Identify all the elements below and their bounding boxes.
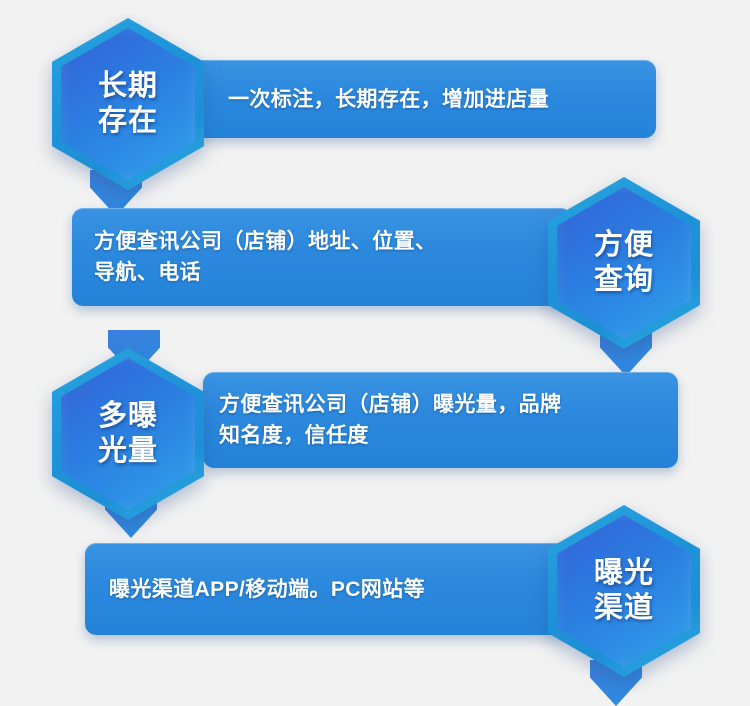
feature-hexagon-convenient-query: 方便 查询 bbox=[548, 177, 700, 349]
feature-bar-exposure-channels: 曝光渠道APP/移动端。PC网站等 bbox=[85, 543, 572, 635]
feature-hexagon-long-term-presence: 长期 存在 bbox=[52, 18, 204, 190]
feature-bar-text: 曝光渠道APP/移动端。PC网站等 bbox=[85, 574, 425, 605]
feature-hexagon-label: 曝光 渠道 bbox=[548, 505, 700, 677]
feature-hexagon-label: 长期 存在 bbox=[52, 18, 204, 190]
feature-bar-text: 一次标注，长期存在，增加进店量 bbox=[188, 84, 549, 115]
feature-hexagon-exposure-channels: 曝光 渠道 bbox=[548, 505, 700, 677]
feature-bar-more-exposure: 方便查讯公司（店铺）曝光量，品牌 知名度，信任度 bbox=[203, 372, 678, 468]
feature-hexagon-label: 多曝 光量 bbox=[52, 348, 204, 520]
feature-bar-convenient-query: 方便查讯公司（店铺）地址、位置、 导航、电话 bbox=[72, 208, 572, 306]
feature-hexagon-more-exposure: 多曝 光量 bbox=[52, 348, 204, 520]
feature-bar-long-term-presence: 一次标注，长期存在，增加进店量 bbox=[188, 60, 656, 138]
feature-hexagon-label: 方便 查询 bbox=[548, 177, 700, 349]
feature-bar-text: 方便查讯公司（店铺）地址、位置、 导航、电话 bbox=[72, 226, 436, 288]
infographic-canvas: 一次标注，长期存在，增加进店量 长期 存在 方便查讯公司（店铺）地址、位置、 导… bbox=[0, 0, 750, 673]
feature-bar-text: 方便查讯公司（店铺）曝光量，品牌 知名度，信任度 bbox=[203, 389, 561, 451]
